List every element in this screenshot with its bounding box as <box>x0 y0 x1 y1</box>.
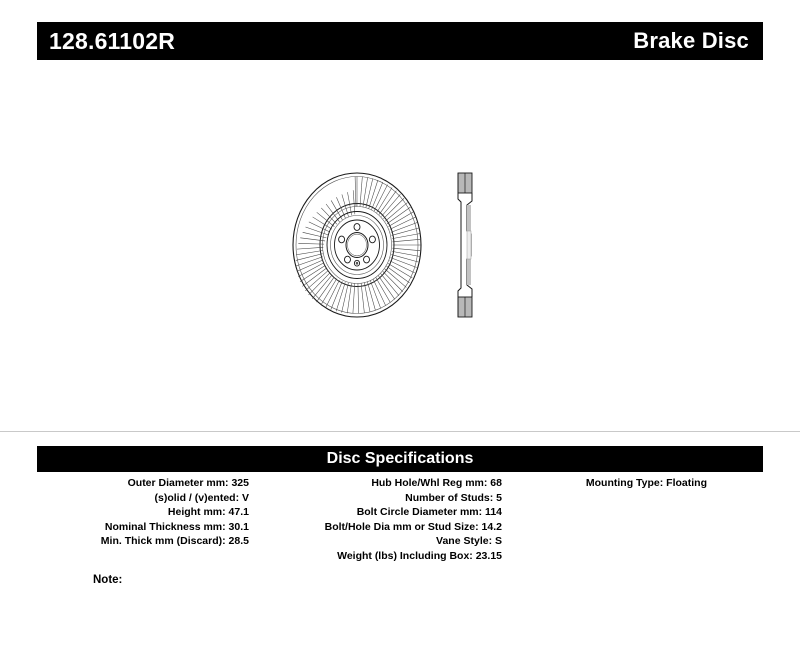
spec-row: Weight (lbs) Including Box: 23.15 <box>249 549 502 564</box>
spec-row: Height mm: 47.1 <box>37 505 249 520</box>
disc-specifications-title: Disc Specifications <box>327 451 474 467</box>
brake-rotor-face-view <box>293 173 421 317</box>
specifications-table: Outer Diameter mm: 325 (s)olid / (v)ente… <box>37 476 763 564</box>
spec-column-left: Outer Diameter mm: 325 (s)olid / (v)ente… <box>37 476 249 549</box>
spec-row: Number of Studs: 5 <box>249 491 502 506</box>
product-type-label: Brake Disc <box>633 30 749 52</box>
section-separator <box>0 431 800 432</box>
spec-row: Hub Hole/Whl Reg mm: 68 <box>249 476 502 491</box>
part-number: 128.61102R <box>49 30 175 53</box>
brake-rotor-drawing <box>282 100 522 390</box>
spec-column-center: Hub Hole/Whl Reg mm: 68 Number of Studs:… <box>249 476 502 564</box>
spec-row: Min. Thick mm (Discard): 28.5 <box>37 534 249 549</box>
product-drawing <box>0 95 800 395</box>
disc-specifications-bar: Disc Specifications <box>37 446 763 472</box>
spec-row: Bolt/Hole Dia mm or Stud Size: 14.2 <box>249 520 502 535</box>
spec-row: Mounting Type: Floating <box>502 476 707 491</box>
spec-column-right: Mounting Type: Floating <box>502 476 763 491</box>
brake-rotor-edge-profile <box>458 173 472 317</box>
title-bar: 128.61102R Brake Disc <box>37 22 763 60</box>
spec-row: Outer Diameter mm: 325 <box>37 476 249 491</box>
spec-row: Vane Style: S <box>249 534 502 549</box>
spec-sheet-page: 128.61102R Brake Disc <box>0 0 800 655</box>
note-section: Note: <box>37 570 763 588</box>
note-label: Note: <box>93 574 122 586</box>
spec-row: Nominal Thickness mm: 30.1 <box>37 520 249 535</box>
spec-row: (s)olid / (v)ented: V <box>37 491 249 506</box>
spec-row: Bolt Circle Diameter mm: 114 <box>249 505 502 520</box>
